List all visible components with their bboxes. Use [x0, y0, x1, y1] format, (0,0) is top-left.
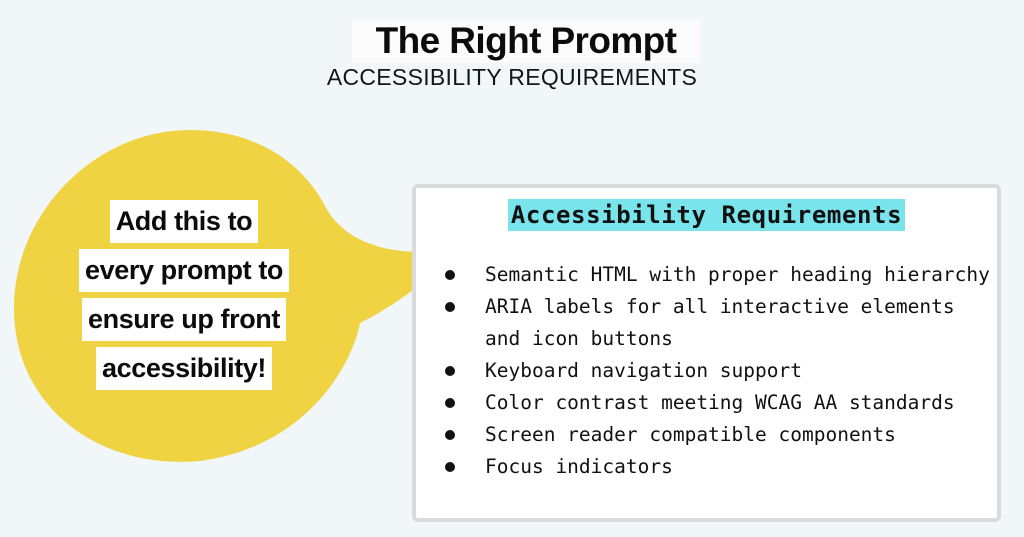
list-item-label: Semantic HTML with proper heading hierar… [485, 263, 990, 286]
bullet-icon [445, 398, 455, 408]
callout-line: accessibility! [24, 347, 344, 396]
page-subtitle: ACCESSIBILITY REQUIREMENTS [0, 63, 1024, 91]
requirements-list: Semantic HTML with proper heading hierar… [429, 259, 999, 483]
page-title: The Right Prompt [352, 19, 700, 63]
list-item: Semantic HTML with proper heading hierar… [429, 259, 999, 291]
list-item: ARIA labels for all interactive elements… [429, 291, 999, 355]
callout-line: ensure up front [24, 298, 344, 347]
list-item-label: ARIA labels for all interactive elements… [485, 295, 955, 350]
list-item: Focus indicators [429, 451, 999, 483]
callout-text: Add this to every prompt to ensure up fr… [24, 200, 344, 396]
list-item-label: Focus indicators [485, 455, 673, 478]
list-item-label: Color contrast meeting WCAG AA standards [485, 391, 955, 414]
list-item: Keyboard navigation support [429, 355, 999, 387]
list-item-label: Screen reader compatible components [485, 423, 896, 446]
bullet-icon [445, 302, 455, 312]
bullet-icon [445, 366, 455, 376]
list-item-label: Keyboard navigation support [485, 359, 802, 382]
panel-heading-container: Accessibility Requirements [416, 199, 997, 231]
list-item: Screen reader compatible components [429, 419, 999, 451]
callout-line: Add this to [24, 200, 344, 249]
bullet-icon [445, 430, 455, 440]
bullet-icon [445, 270, 455, 280]
list-item: Color contrast meeting WCAG AA standards [429, 387, 999, 419]
panel-heading: Accessibility Requirements [508, 199, 905, 231]
callout-line: every prompt to [24, 249, 344, 298]
requirements-panel: Accessibility Requirements Semantic HTML… [412, 184, 1001, 522]
bullet-icon [445, 462, 455, 472]
